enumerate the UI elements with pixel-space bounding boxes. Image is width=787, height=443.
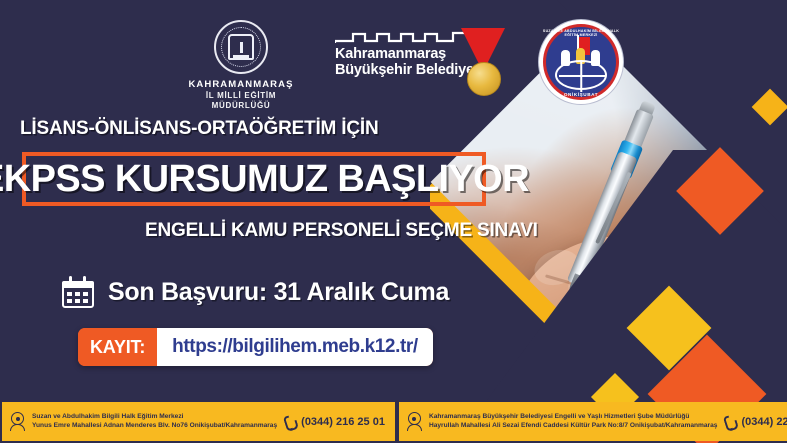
footer-right-address: Kahramanmaraş Büyükşehir Belediyesi Enge… [429,413,718,430]
meb-seal-icon [214,20,268,74]
logo-halk-egitim-merkezi: SUZAN VE ABDULHAKİM BİLGİLİ HALK EĞİTİM … [539,20,623,104]
logo-milli-egitim: KAHRAMANMARAŞ İL MİLLİ EĞİTİM MÜDÜRLÜĞÜ [176,20,306,112]
footer-bar-right: Kahramanmaraş Büyükşehir Belediyesi Enge… [399,402,787,441]
castle-wave-icon [335,30,475,44]
phone-icon [284,416,296,428]
footer-bar-left: Suzan ve Abdulhakim Bilgili Halk Eğitim … [2,402,395,441]
headline-title-box: EKPSS KURSUMUZ BAŞLIYOR [22,152,486,206]
deadline-row: Son Başvuru: 31 Aralık Cuma [62,276,449,308]
logo-buyuksehir-belediyesi: Kahramanmaraş Büyükşehir Belediyesi [335,30,505,78]
footer-left-line1: Suzan ve Abdulhakim Bilgili Halk Eğitim … [32,413,277,422]
footer-right-phone-number: (0344) 225 71 88 [741,416,787,428]
footer-left-address: Suzan ve Abdulhakim Bilgili Halk Eğitim … [32,413,277,430]
footer: Suzan ve Abdulhakim Bilgili Halk Eğitim … [0,402,787,443]
hem-rim-bottom-text: ONİKİŞUBAT [539,92,623,97]
registration-bar[interactable]: KAYIT: https://bilgilihem.meb.k12.tr/ [78,328,433,366]
ekpss-course-banner: KAHRAMANMARAŞ İL MİLLİ EĞİTİM MÜDÜRLÜĞÜ … [0,0,787,443]
deadline-text: Son Başvuru: 31 Aralık Cuma [108,278,449,307]
hem-rim-top-text: SUZAN VE ABDULHAKİM BİLGİLİ HALK EĞİTİM … [539,29,623,37]
phone-icon [724,416,736,428]
footer-left-phone-number: (0344) 216 25 01 [301,416,385,428]
footer-left-line2: Yunus Emre Mahallesi Adnan Menderes Blv.… [32,422,277,431]
meb-logo-line1: KAHRAMANMARAŞ [176,79,306,91]
registration-label: KAYIT: [78,328,157,366]
globe-icon [555,60,607,90]
calendar-icon [62,276,94,308]
footer-left-phone[interactable]: (0344) 216 25 01 [284,416,387,428]
footer-right-line1: Kahramanmaraş Büyükşehir Belediyesi Enge… [429,413,718,422]
footer-right-phone[interactable]: (0344) 225 71 88 [724,416,787,428]
headline-kicker: LİSANS-ÖNLİSANS-ORTAÖĞRETİM İÇİN [20,118,378,140]
registration-url[interactable]: https://bilgilihem.meb.k12.tr/ [157,328,433,366]
meb-logo-line2: İL MİLLİ EĞİTİM MÜDÜRLÜĞÜ [176,91,306,112]
medal-icon [455,28,511,116]
headline-title: EKPSS KURSUMUZ BAŞLIYOR [0,158,529,201]
location-pin-icon [10,412,25,431]
headline-subtitle: ENGELLİ KAMU PERSONELİ SEÇME SINAVI [145,220,538,242]
location-pin-icon [407,412,422,431]
footer-right-line2: Hayrullah Mahallesi Ali Sezai Efendi Cad… [429,422,718,431]
